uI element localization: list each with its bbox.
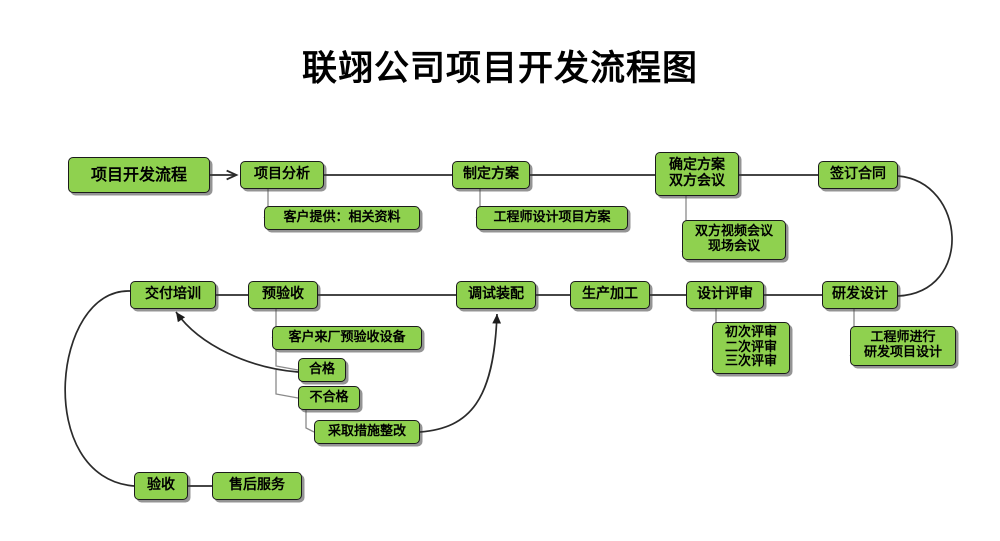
node-delivery-training[interactable]: 交付培训	[130, 281, 216, 309]
node-final-acceptance[interactable]: 验收	[134, 472, 188, 500]
branch-n10-a8	[276, 370, 298, 398]
node-project-development-process[interactable]: 项目开发流程	[68, 157, 210, 193]
annotation-pass[interactable]: 合格	[298, 358, 346, 382]
node-design-review[interactable]: 设计评审	[686, 281, 764, 309]
node-after-sales-service[interactable]: 售后服务	[212, 472, 302, 500]
node-rnd-design[interactable]: 研发设计	[822, 281, 898, 309]
node-sign-contract[interactable]: 签订合同	[818, 161, 898, 189]
annotation-fail[interactable]: 不合格	[298, 386, 360, 410]
annotation-customer-onsite-pre-acceptance[interactable]: 客户来厂预验收设备	[272, 326, 422, 350]
connector-n11-n12	[65, 291, 134, 486]
node-production-processing[interactable]: 生产加工	[570, 281, 650, 309]
node-project-analysis[interactable]: 项目分析	[240, 161, 324, 189]
annotation-customer-provides-materials[interactable]: 客户提供：相关资料	[264, 206, 420, 230]
node-confirm-plan-bilateral-meeting[interactable]: 确定方案 双方会议	[655, 152, 739, 196]
annotation-video-and-onsite-meeting[interactable]: 双方视频会议 现场会议	[682, 220, 786, 260]
node-debug-assembly[interactable]: 调试装配	[456, 281, 536, 309]
node-pre-acceptance[interactable]: 预验收	[248, 281, 318, 309]
annotation-review-rounds[interactable]: 初次评审 二次评审 三次评审	[712, 322, 790, 374]
annotation-take-corrective-measures[interactable]: 采取措施整改	[314, 420, 420, 444]
flowchart-canvas: 联翊公司项目开发流程图	[0, 0, 1000, 541]
connector-n5-n6	[898, 176, 952, 296]
node-formulate-plan[interactable]: 制定方案	[452, 161, 530, 189]
branch-a8-a9	[306, 410, 314, 432]
annotation-engineer-rnd-project-design[interactable]: 工程师进行 研发项目设计	[850, 326, 956, 366]
annotation-engineer-designs-project-plan[interactable]: 工程师设计项目方案	[476, 206, 628, 230]
page-title: 联翊公司项目开发流程图	[0, 40, 1000, 91]
connector-a9-n9	[420, 314, 497, 432]
